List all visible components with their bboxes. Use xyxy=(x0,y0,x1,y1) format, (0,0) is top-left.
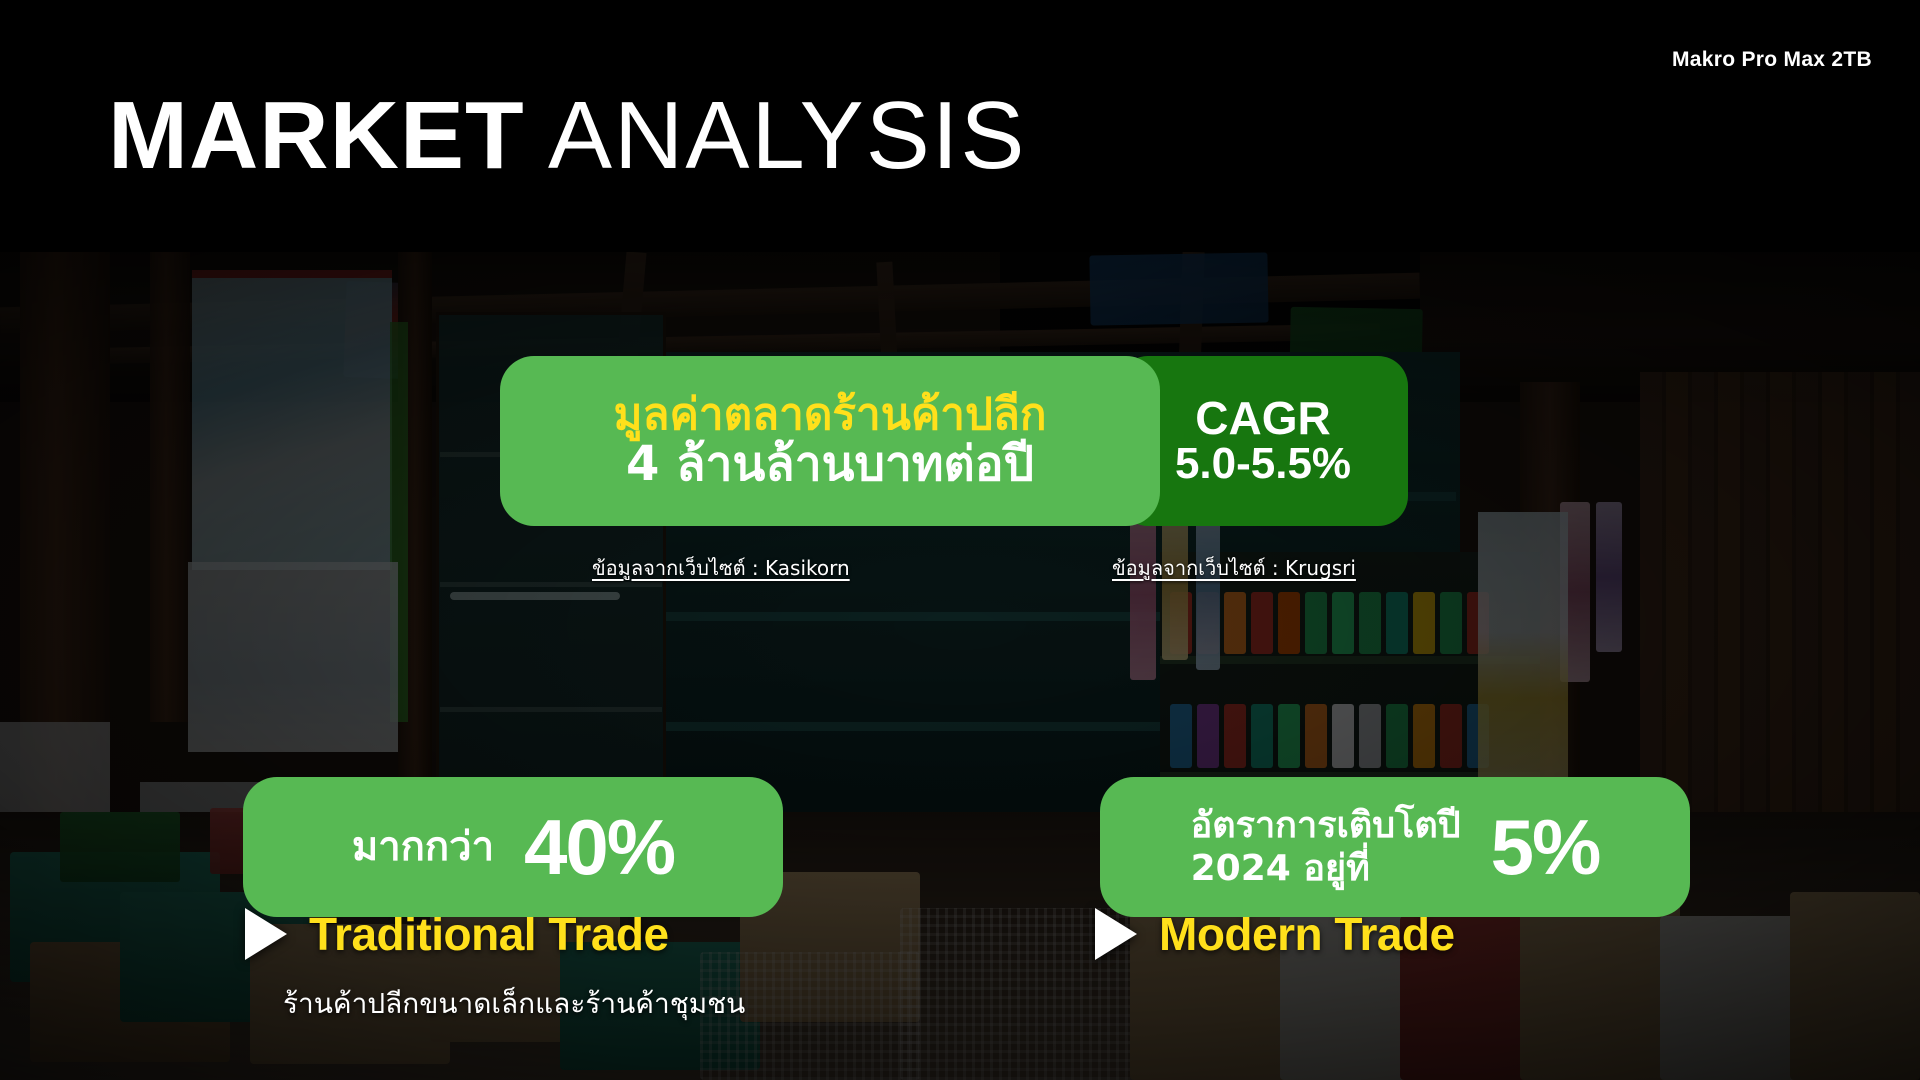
traditional-trade-stat-label: มากกว่า xyxy=(352,824,494,870)
modern-trade-stat-label-line1: อัตราการเติบโตปี xyxy=(1191,805,1461,846)
traditional-trade-stat-value: 40% xyxy=(524,802,674,893)
traditional-trade-stat-card: มากกว่า 40% xyxy=(243,777,783,917)
cagr-value: 5.0-5.5% xyxy=(1175,442,1351,487)
modern-trade-stat-value: 5% xyxy=(1491,802,1600,893)
header-bar: Makro Pro Max 2TB MARKET ANALYSIS xyxy=(0,0,1920,252)
market-value-amount: 4 ล้านล้านบาทต่อปี xyxy=(626,438,1034,491)
modern-trade-stat-label-line2: 2024 อยู่ที่ xyxy=(1191,848,1370,889)
source-link-kasikorn[interactable]: ข้อมูลจากเว็บไซต์ : Kasikorn xyxy=(592,552,850,584)
cagr-panel: CAGR 5.0-5.5% xyxy=(1118,356,1408,526)
source-link-krugsri[interactable]: ข้อมูลจากเว็บไซต์ : Krugsri xyxy=(1112,552,1356,584)
cagr-label: CAGR xyxy=(1195,395,1330,442)
brand-tag: Makro Pro Max 2TB xyxy=(1672,48,1872,72)
modern-trade-stat-label: อัตราการเติบโตปี 2024 อยู่ที่ xyxy=(1191,804,1461,890)
market-value-label: มูลค่าตลาดร้านค้าปลีก xyxy=(613,391,1046,439)
traditional-trade-subtitle: ร้านค้าปลีกขนาดเล็กและร้านค้าชุมชน xyxy=(283,982,745,1026)
page-title-light: ANALYSIS xyxy=(525,82,1027,189)
slide-root: Makro Pro Max 2TB MARKET ANALYSIS CAGR 5… xyxy=(0,0,1920,1080)
modern-trade-stat-card: อัตราการเติบโตปี 2024 อยู่ที่ 5% xyxy=(1100,777,1690,917)
market-value-panel: มูลค่าตลาดร้านค้าปลีก 4 ล้านล้านบาทต่อปี xyxy=(500,356,1160,526)
page-title-bold: MARKET xyxy=(108,82,525,189)
page-title: MARKET ANALYSIS xyxy=(108,88,1026,184)
content-overlay: CAGR 5.0-5.5% มูลค่าตลาดร้านค้าปลีก 4 ล้… xyxy=(0,252,1920,1080)
